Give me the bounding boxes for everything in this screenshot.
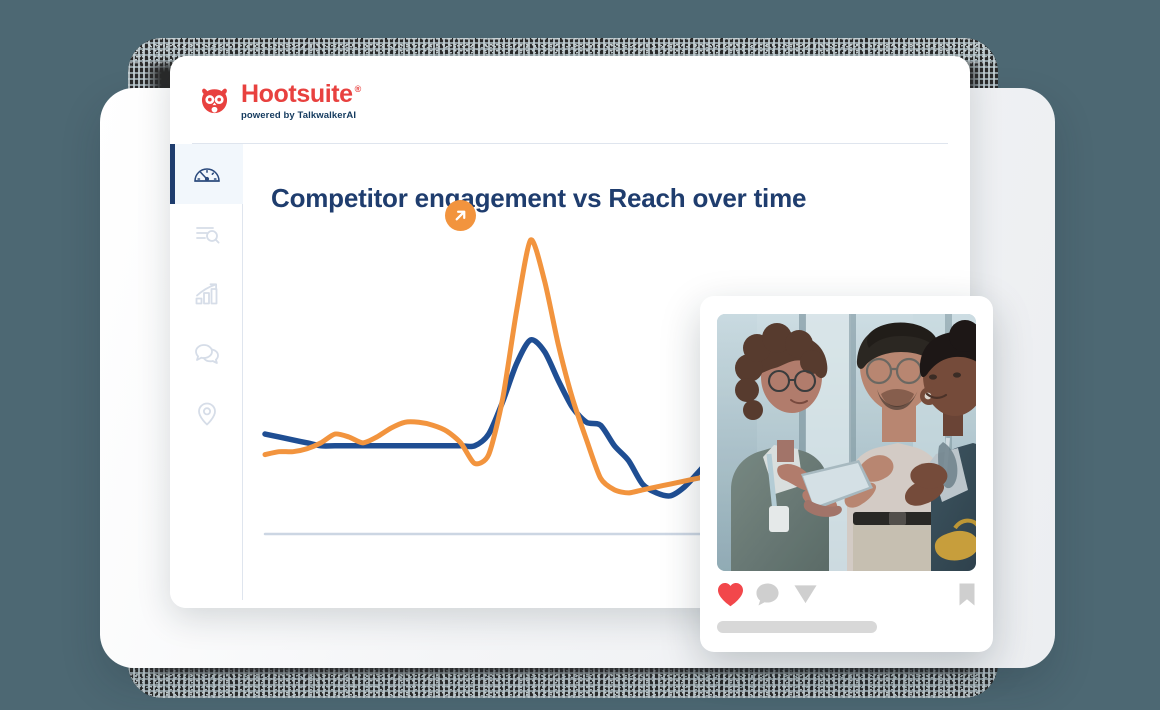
sidebar-item-dashboard[interactable] <box>170 144 243 204</box>
map-pin-icon <box>191 398 223 430</box>
brand-tagline: powered by TalkwalkerAI <box>241 111 361 121</box>
sidebar-item-locations[interactable] <box>170 384 243 444</box>
bar-chart-up-icon <box>191 278 223 310</box>
registered-mark: ® <box>355 85 361 94</box>
owl-icon <box>197 84 232 119</box>
heart-icon[interactable] <box>717 582 744 612</box>
comment-icon[interactable] <box>755 582 780 612</box>
sidebar <box>170 144 243 608</box>
sidebar-item-analytics[interactable] <box>170 264 243 324</box>
social-post-image <box>717 314 976 571</box>
brand-logo[interactable]: Hootsuite® powered by TalkwalkerAI <box>197 82 361 121</box>
caption-placeholder-bar <box>717 621 877 633</box>
peak-annotation-badge[interactable] <box>445 200 476 231</box>
social-post-card <box>700 296 993 652</box>
brand-wordmark: Hootsuite® <box>241 82 361 107</box>
sidebar-item-search[interactable] <box>170 204 243 264</box>
composition-stage: Hootsuite® powered by TalkwalkerAI <box>0 0 1160 710</box>
gauge-icon <box>191 158 223 190</box>
arrow-up-right-icon <box>452 207 469 224</box>
bookmark-icon[interactable] <box>958 582 976 612</box>
sidebar-item-messages[interactable] <box>170 324 243 384</box>
app-header: Hootsuite® powered by TalkwalkerAI <box>170 56 970 144</box>
share-icon[interactable] <box>793 582 818 611</box>
social-post-actions <box>717 582 976 610</box>
chat-bubbles-icon <box>191 338 223 370</box>
list-search-icon <box>191 218 223 250</box>
